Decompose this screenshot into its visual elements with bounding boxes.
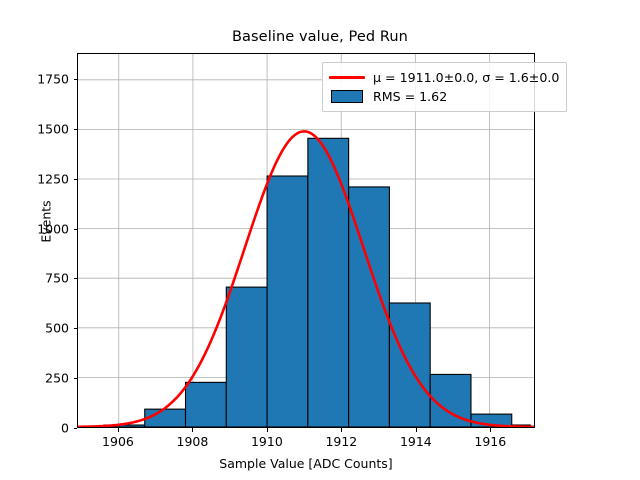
x-axis-tick-marks (77, 428, 535, 435)
x-tick-label: 1910 (251, 434, 283, 449)
x-tick-mark (341, 428, 342, 432)
fit-line-icon (329, 70, 365, 85)
legend-item-fit: μ = 1911.0±0.0, σ = 1.6±0.0 (329, 68, 559, 87)
y-tick-label: 250 (45, 371, 69, 386)
matplotlib-figure: Baseline value, Ped Run Events Sample Va… (0, 0, 640, 480)
y-tick-label: 1250 (37, 171, 69, 186)
x-tick-label: 1908 (177, 434, 209, 449)
legend-item-histogram: RMS = 1.62 (329, 87, 559, 106)
x-tick-mark (118, 428, 119, 432)
x-tick-label: 1914 (400, 434, 432, 449)
x-tick-mark (192, 428, 193, 432)
legend-label-fit: μ = 1911.0±0.0, σ = 1.6±0.0 (373, 70, 559, 85)
x-tick-mark (490, 428, 491, 432)
page-title: Baseline value, Ped Run (0, 29, 640, 45)
y-axis-tick-marks (70, 53, 77, 428)
legend: μ = 1911.0±0.0, σ = 1.6±0.0 RMS = 1.62 (322, 62, 567, 112)
y-tick-label: 500 (45, 321, 69, 336)
x-tick-label: 1912 (325, 434, 357, 449)
y-tick-label: 1750 (37, 71, 69, 86)
x-tick-mark (267, 428, 268, 432)
x-tick-label: 1916 (474, 434, 506, 449)
y-axis-tick-labels: 02505007501000125015001750 (0, 53, 69, 428)
x-tick-label: 1906 (102, 434, 134, 449)
y-tick-label: 1000 (37, 221, 69, 236)
x-axis-tick-labels: 190619081910191219141916 (77, 434, 535, 454)
x-axis-label: Sample Value [ADC Counts] (77, 456, 535, 471)
legend-label-rms: RMS = 1.62 (373, 89, 447, 104)
x-tick-mark (416, 428, 417, 432)
y-tick-label: 1500 (37, 121, 69, 136)
y-tick-label: 0 (61, 421, 69, 436)
histogram-patch-icon (329, 89, 365, 104)
y-tick-label: 750 (45, 271, 69, 286)
